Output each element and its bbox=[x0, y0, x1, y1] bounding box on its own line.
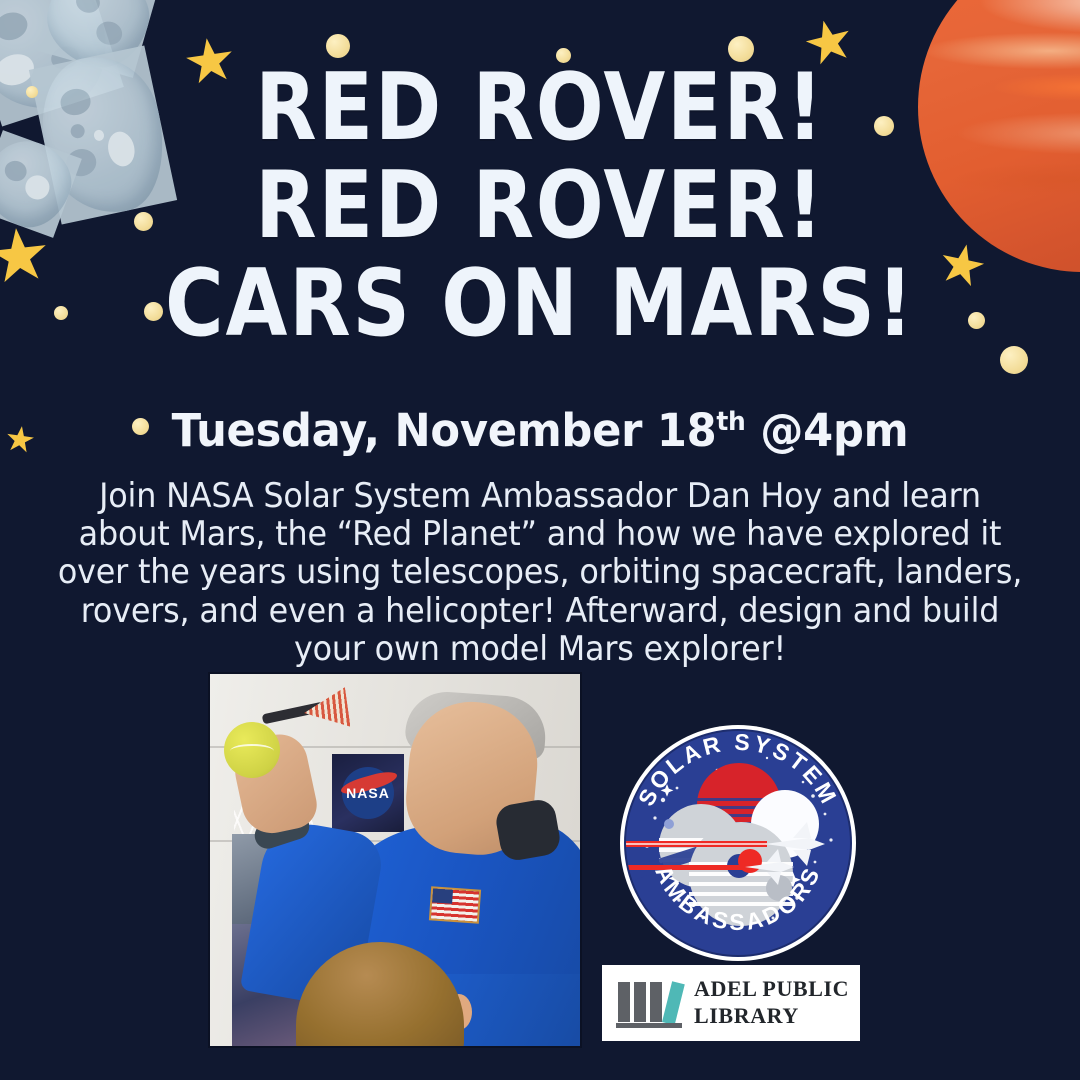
books-icon bbox=[616, 978, 682, 1028]
library-name-line-2: LIBRARY bbox=[694, 1003, 849, 1030]
event-date-ordinal: th bbox=[716, 407, 745, 437]
photo-nasa-poster: NASA bbox=[332, 754, 404, 832]
nasa-logo-text: NASA bbox=[332, 785, 404, 801]
event-flyer: RED ROVER! RED ROVER! CARS ON MARS! Tues… bbox=[0, 0, 1080, 1080]
headline-line-3: CARS ON MARS! bbox=[76, 258, 1005, 348]
photo-tennis-ball bbox=[224, 722, 280, 778]
photo-usa-flag-patch bbox=[431, 888, 479, 921]
event-photo: NASA bbox=[210, 674, 580, 1046]
event-date-time: Tuesday, November 18th @4pm bbox=[22, 404, 1059, 457]
star-dot bbox=[1000, 346, 1028, 374]
event-time-suffix: @4pm bbox=[746, 404, 909, 457]
event-description: Join NASA Solar System Ambassador Dan Ho… bbox=[56, 477, 1025, 668]
event-date-prefix: Tuesday, November 18 bbox=[172, 404, 717, 457]
headline-line-1: RED ROVER! bbox=[76, 62, 1005, 152]
library-name-line-1: ADEL PUBLIC bbox=[694, 976, 849, 1003]
badge-svg: SOLAR SYSTEM AMBASSADORS bbox=[617, 722, 859, 964]
solar-system-ambassadors-badge: SOLAR SYSTEM AMBASSADORS bbox=[617, 722, 859, 964]
headline-block: RED ROVER! RED ROVER! CARS ON MARS! bbox=[0, 62, 1080, 349]
library-name: ADEL PUBLIC LIBRARY bbox=[694, 976, 849, 1030]
adel-public-library-logo: ADEL PUBLIC LIBRARY bbox=[602, 965, 860, 1041]
headline-line-2: RED ROVER! bbox=[76, 160, 1005, 250]
